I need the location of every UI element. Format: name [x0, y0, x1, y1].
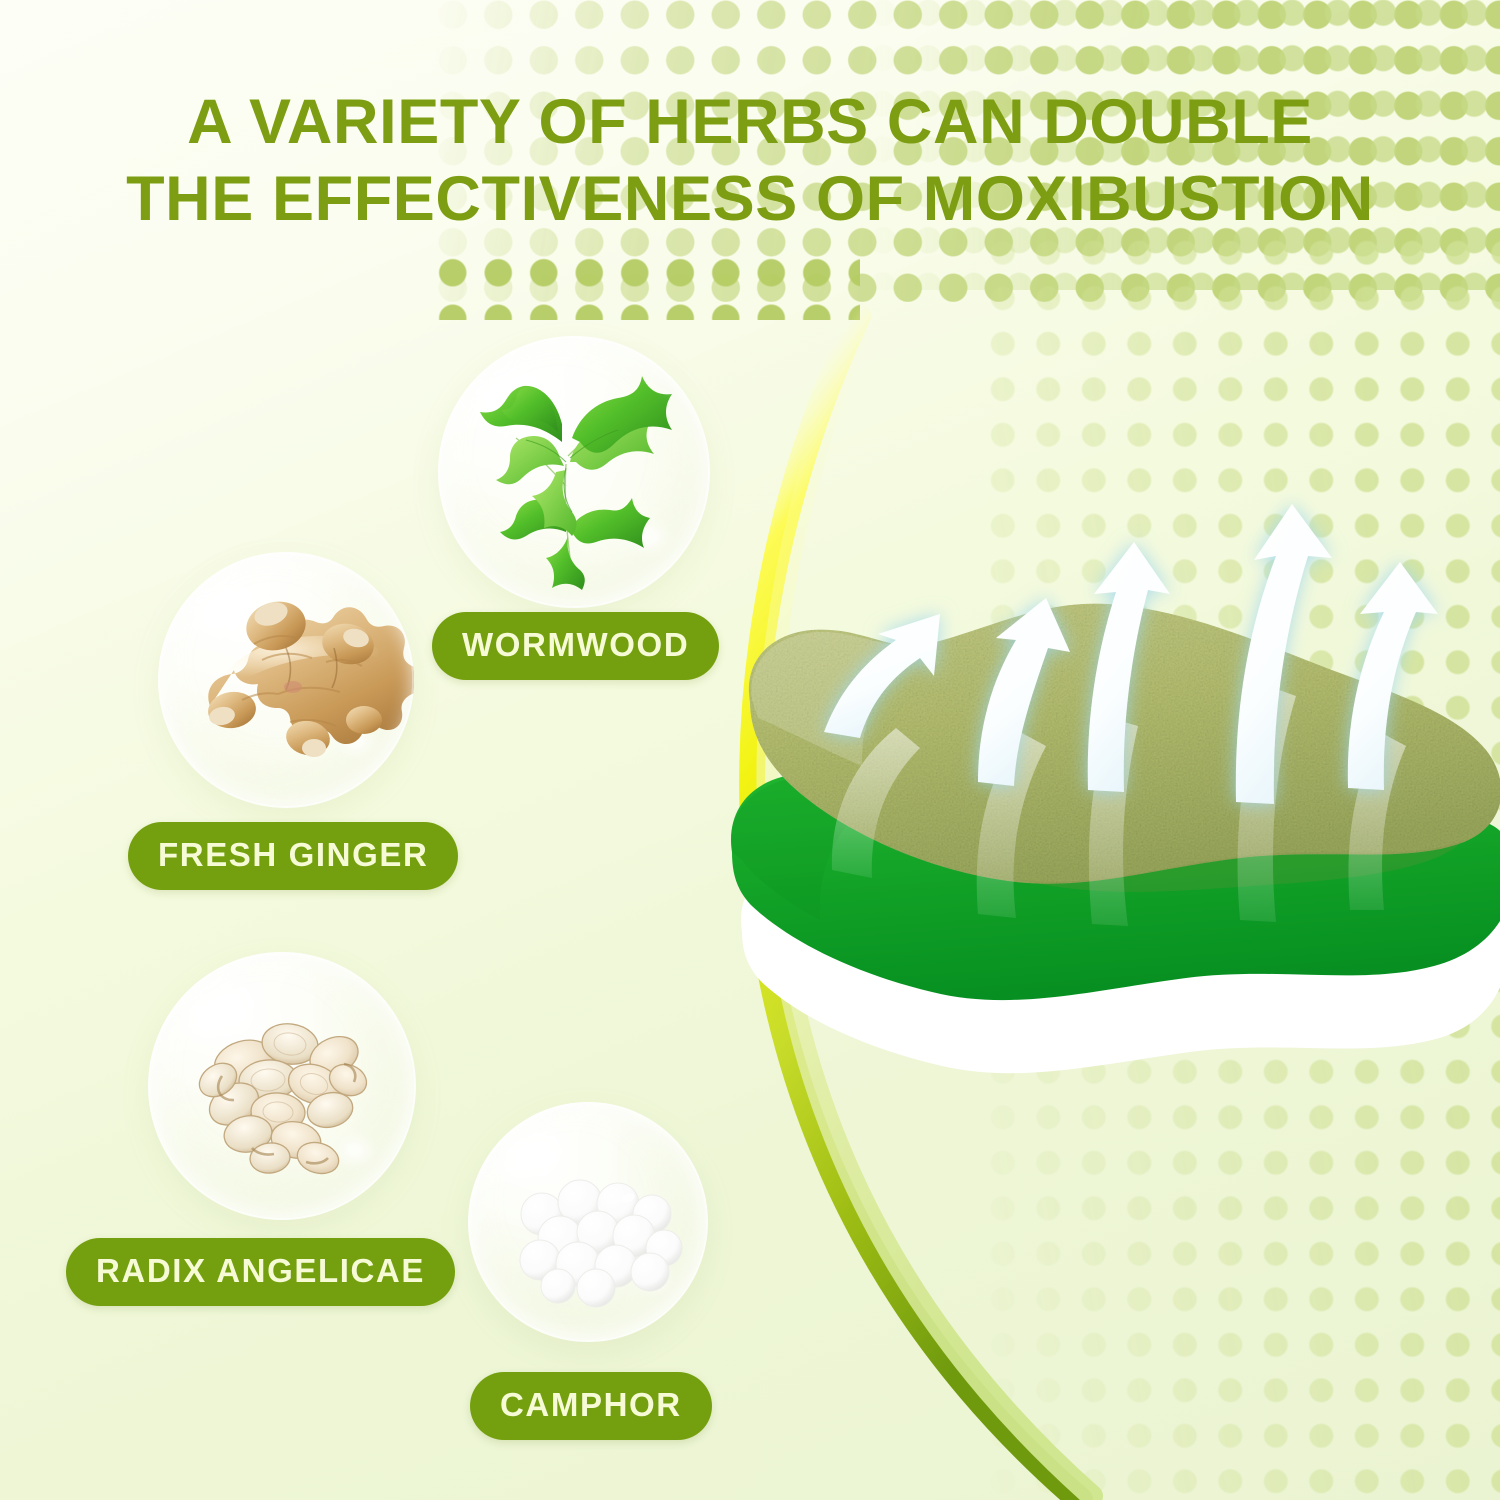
poster-canvas: A VARIETY OF HERBS CAN DOUBLE THE EFFECT… — [0, 0, 1500, 1500]
ingredient-bubble-wormwood[interactable] — [438, 336, 710, 608]
headline-line-2: THE EFFECTIVENESS OF MOXIBUSTION — [0, 161, 1500, 238]
ingredient-label-camphor: CAMPHOR — [470, 1372, 712, 1440]
ingredient-bubble-camphor[interactable] — [468, 1102, 708, 1342]
moxibustion-patch-diagram — [720, 480, 1500, 1180]
camphor-balls-icon — [468, 1102, 708, 1342]
halftone-dot-row-mid — [430, 250, 860, 320]
bubble-highlight — [641, 1270, 667, 1289]
ingredient-bubble-radix-angelicae[interactable] — [148, 952, 416, 1220]
ginger-root-icon — [158, 552, 414, 808]
dried-root-slices-icon — [148, 952, 416, 1220]
bubble-highlight — [342, 731, 370, 751]
bubble-highlight — [341, 1140, 370, 1161]
wormwood-leaf-icon — [438, 336, 710, 608]
headline-line-1: A VARIETY OF HERBS CAN DOUBLE — [187, 87, 1313, 157]
poster-headline: A VARIETY OF HERBS CAN DOUBLE THE EFFECT… — [0, 84, 1500, 238]
bubble-highlight — [634, 526, 664, 548]
ingredient-label-ginger: FRESH GINGER — [128, 822, 458, 890]
ingredient-label-radix-angelicae: RADIX ANGELICAE — [66, 1238, 455, 1306]
ingredient-bubble-ginger[interactable] — [158, 552, 414, 808]
ingredient-label-wormwood: WORMWOOD — [432, 612, 719, 680]
